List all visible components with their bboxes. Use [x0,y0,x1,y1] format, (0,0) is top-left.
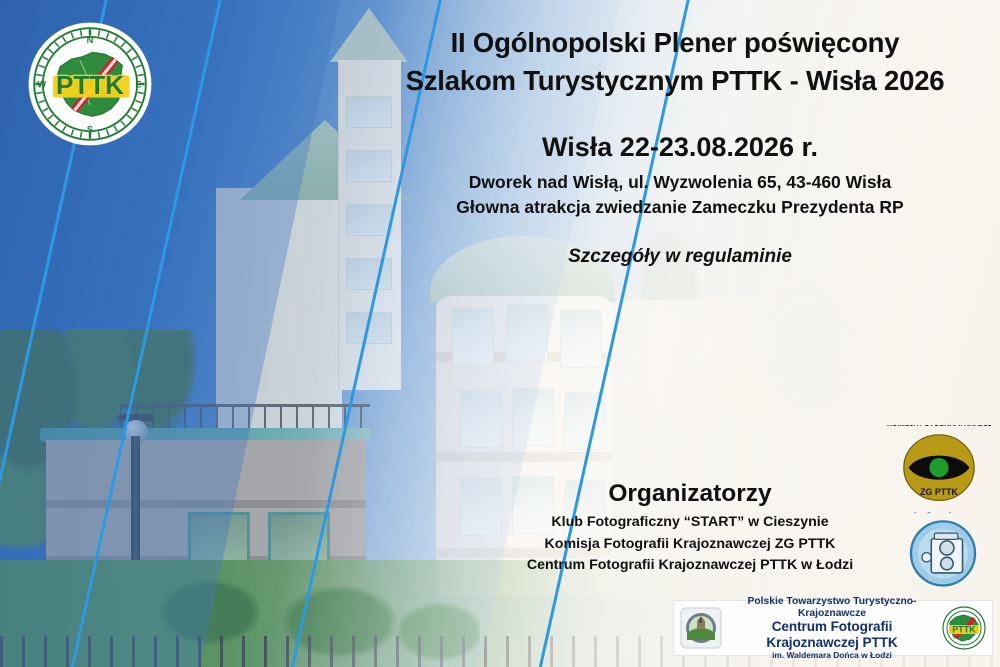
camera-knob [922,553,931,562]
camera-hood [934,533,957,539]
kfk-arc-text: KOMISJA FOTOGRAFII KRAJOZNAWCZEJ [887,425,991,428]
cfk-shield-icon [680,607,722,649]
organizer-item: Komisja Fotografii Krajoznawczej ZG PTTK [430,534,950,556]
organizer-item: Klub Fotograficzny “START” w Cieszynie [430,512,950,534]
details-note: Szczegóły w regulaminie [400,246,960,268]
kfk-emblem: KOMISJA FOTOGRAFII KRAJOZNAWCZEJ ZG PTTK [887,425,991,507]
banner-row-3: im. Waldemara Dońca w Łodzi [728,651,936,661]
camera-lens-top [940,541,954,555]
bottom-logo-banner: Polskie Towarzystwo Turystyczno-Krajozna… [673,600,993,656]
camera-lens-bottom [941,557,953,569]
banner-text: Polskie Towarzystwo Turystyczno-Krajozna… [728,596,936,661]
event-date: Wisła 22-23.08.2026 r. [400,132,960,163]
event-venue: Dworek nad Wisłą, ul. Wyzwolenia 65, 43-… [400,170,960,221]
poster-canvas: PTTK N S W E II Ogólnopolski Plener pośw… [0,0,1000,667]
banner-row-2: Centrum Fotografii Krajoznawczej PTTK [728,619,936,650]
compass-label-s: S [87,124,93,134]
start-emblem: Klub Fotograficzny START Cieszyn [900,512,986,594]
pttk-logo: PTTK N S W E [28,22,152,146]
venue-attraction: Głowna atrakcja zwiedzanie Zameczku Prez… [400,195,960,220]
organizers-heading: Organizatorzy [470,480,910,508]
pttk-small-logo-icon: PTTK [942,606,986,650]
venue-address: Dworek nad Wisłą, ul. Wyzwolenia 65, 43-… [400,170,960,195]
kfk-bottom-text: ZG PTTK [920,487,958,497]
svg-text:PTTK: PTTK [952,625,976,635]
pttk-wordmark: PTTK [56,70,124,100]
eye-iris [929,458,948,477]
title-line-2: Szlakom Turystycznym PTTK - Wisła 2026 [360,62,990,100]
start-bottom-text: Cieszyn [900,512,921,514]
banner-row-1: Polskie Towarzystwo Turystyczno-Krajozna… [728,596,936,620]
compass-label-w: W [37,80,46,90]
title-line-1: II Ogólnopolski Plener poświęcony [360,24,990,62]
compass-label-e: E [135,80,141,90]
organizers-list: Klub Fotograficzny “START” w Cieszynie K… [430,512,950,577]
organizer-item: Centrum Fotografii Krajoznawczej PTTK w … [430,555,950,577]
page-title: II Ogólnopolski Plener poświęcony Szlako… [360,24,990,100]
compass-label-n: N [87,35,94,45]
